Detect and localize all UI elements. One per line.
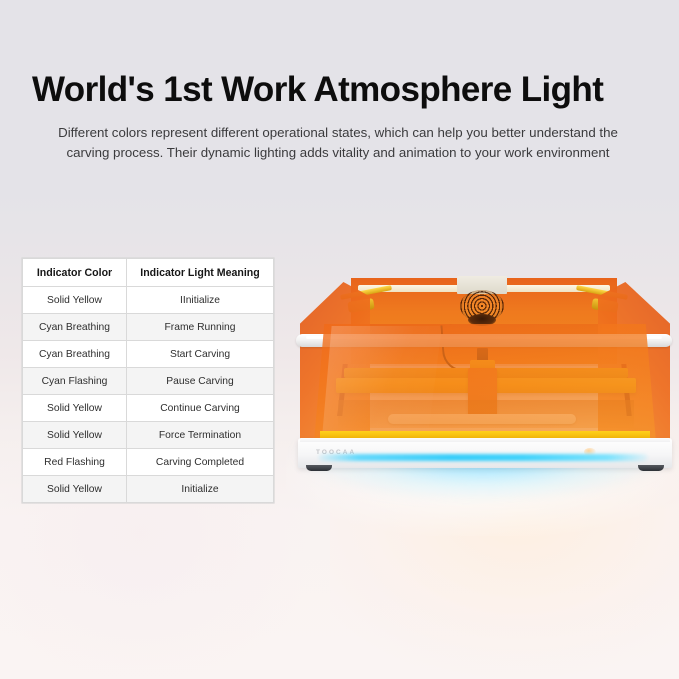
cell-indicator-meaning: Initialize	[127, 476, 274, 503]
indicator-table-container: Indicator Color Indicator Light Meaning …	[22, 258, 273, 503]
cell-indicator-meaning: Continue Carving	[127, 395, 274, 422]
table-row: Cyan Breathing Frame Running	[23, 314, 274, 341]
header: World's 1st Work Atmosphere Light Differ…	[0, 0, 679, 164]
table-head: Indicator Color Indicator Light Meaning	[23, 259, 274, 287]
cell-indicator-color: Red Flashing	[23, 449, 127, 476]
atmosphere-light-strip	[318, 454, 648, 461]
cell-indicator-color: Solid Yellow	[23, 287, 127, 314]
table-row: Cyan Flashing Pause Carving	[23, 368, 274, 395]
cell-indicator-color: Cyan Breathing	[23, 314, 127, 341]
table-row: Solid Yellow Force Termination	[23, 422, 274, 449]
table-body: Solid Yellow IInitialize Cyan Breathing …	[23, 287, 274, 503]
cell-indicator-meaning: IInitialize	[127, 287, 274, 314]
column-header-indicator-color: Indicator Color	[23, 259, 127, 287]
indicator-table: Indicator Color Indicator Light Meaning …	[22, 258, 274, 503]
chassis-base-top-edge	[300, 438, 670, 442]
cell-indicator-color: Solid Yellow	[23, 476, 127, 503]
cell-indicator-color: Solid Yellow	[23, 395, 127, 422]
cell-indicator-meaning: Frame Running	[127, 314, 274, 341]
page-title: World's 1st Work Atmosphere Light	[0, 0, 679, 109]
table-row: Cyan Breathing Start Carving	[23, 341, 274, 368]
cell-indicator-meaning: Start Carving	[127, 341, 274, 368]
chassis-foot-left	[306, 465, 332, 471]
cell-indicator-meaning: Force Termination	[127, 422, 274, 449]
column-header-indicator-meaning: Indicator Light Meaning	[127, 259, 274, 287]
product-image-laser-engraver: TOOCAA	[292, 268, 676, 513]
cell-indicator-meaning: Pause Carving	[127, 368, 274, 395]
page-root: World's 1st Work Atmosphere Light Differ…	[0, 0, 679, 679]
page-subtitle: Different colors represent different ope…	[0, 109, 678, 164]
cell-indicator-meaning: Carving Completed	[127, 449, 274, 476]
table-header-row: Indicator Color Indicator Light Meaning	[23, 259, 274, 287]
table-row: Solid Yellow Initialize	[23, 476, 274, 503]
cell-indicator-color: Cyan Flashing	[23, 368, 127, 395]
table-row: Solid Yellow Continue Carving	[23, 395, 274, 422]
cell-indicator-color: Cyan Breathing	[23, 341, 127, 368]
table-row: Solid Yellow IInitialize	[23, 287, 274, 314]
table-row: Red Flashing Carving Completed	[23, 449, 274, 476]
cell-indicator-color: Solid Yellow	[23, 422, 127, 449]
acrylic-panel-front-sheen	[322, 326, 442, 438]
chassis-foot-right	[638, 465, 664, 471]
